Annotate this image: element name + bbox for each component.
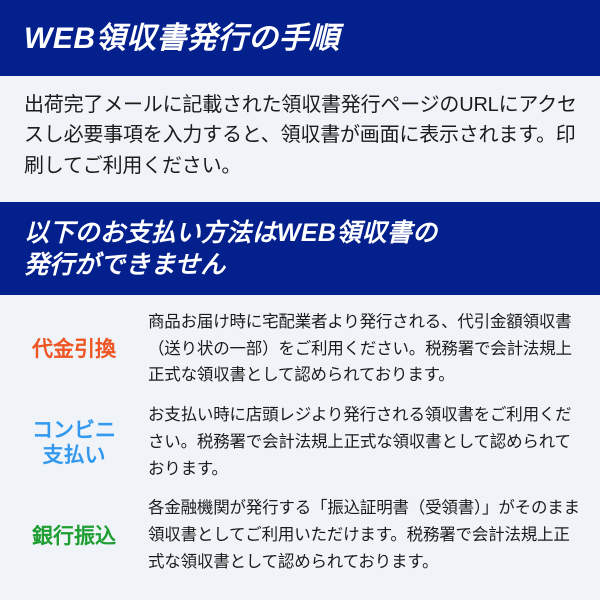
intro-section: 出荷完了メールに記載された領収書発行ページのURLにアクセスし必要事項を入力する… <box>0 76 600 202</box>
payment-method-label-cod: 代金引換 <box>32 337 116 363</box>
notice-header-bar: 以下のお支払い方法はWEB領収書の 発行ができません <box>0 202 600 295</box>
notice-header-line-2: 発行ができません <box>24 249 600 281</box>
page-title: WEB領収書発行の手順 <box>24 22 340 55</box>
payment-method-label-cell: コンビニ 支払い <box>0 402 148 482</box>
payment-method-description-bank: 各金融機関が発行する「振込証明書（受領書）」がそのまま領収書としてご利用いただけ… <box>148 495 582 575</box>
notice-header-line-1: 以下のお支払い方法はWEB領収書の <box>24 217 600 249</box>
payment-method-row-cod: 代金引換 商品お届け時に宅配業者より発行される、代引金額領収書（送り状の一部）を… <box>0 309 600 389</box>
payment-method-label-bank: 銀行振込 <box>32 524 116 550</box>
payment-method-row-bank: 銀行振込 各金融機関が発行する「振込証明書（受領書）」がそのまま領収書としてご利… <box>0 495 600 575</box>
payment-method-description-cell: 各金融機関が発行する「振込証明書（受領書）」がそのまま領収書としてご利用いただけ… <box>148 495 586 575</box>
payment-method-label-cvs: コンビニ 支払い <box>32 418 116 469</box>
intro-paragraph: 出荷完了メールに記載された領収書発行ページのURLにアクセスし必要事項を入力する… <box>24 90 580 181</box>
payment-method-description-cell: 商品お届け時に宅配業者より発行される、代引金額領収書（送り状の一部）をご利用くだ… <box>148 309 586 389</box>
payment-method-description-cvs: お支払い時に店頭レジより発行される領収書をご利用ください。税務署で会計法規上正式… <box>148 402 582 482</box>
payment-method-label-cell: 銀行振込 <box>0 495 148 575</box>
payment-method-row-cvs: コンビニ 支払い お支払い時に店頭レジより発行される領収書をご利用ください。税務… <box>0 402 600 482</box>
receipt-info-graphic: WEB領収書発行の手順 出荷完了メールに記載された領収書発行ページのURLにアク… <box>0 0 600 600</box>
payment-method-description-cell: お支払い時に店頭レジより発行される領収書をご利用ください。税務署で会計法規上正式… <box>148 402 586 482</box>
payment-methods-list: 代金引換 商品お届け時に宅配業者より発行される、代引金額領収書（送り状の一部）を… <box>0 295 600 575</box>
payment-method-label-cell: 代金引換 <box>0 309 148 389</box>
main-header-bar: WEB領収書発行の手順 <box>0 0 600 76</box>
payment-method-description-cod: 商品お届け時に宅配業者より発行される、代引金額領収書（送り状の一部）をご利用くだ… <box>148 309 582 389</box>
